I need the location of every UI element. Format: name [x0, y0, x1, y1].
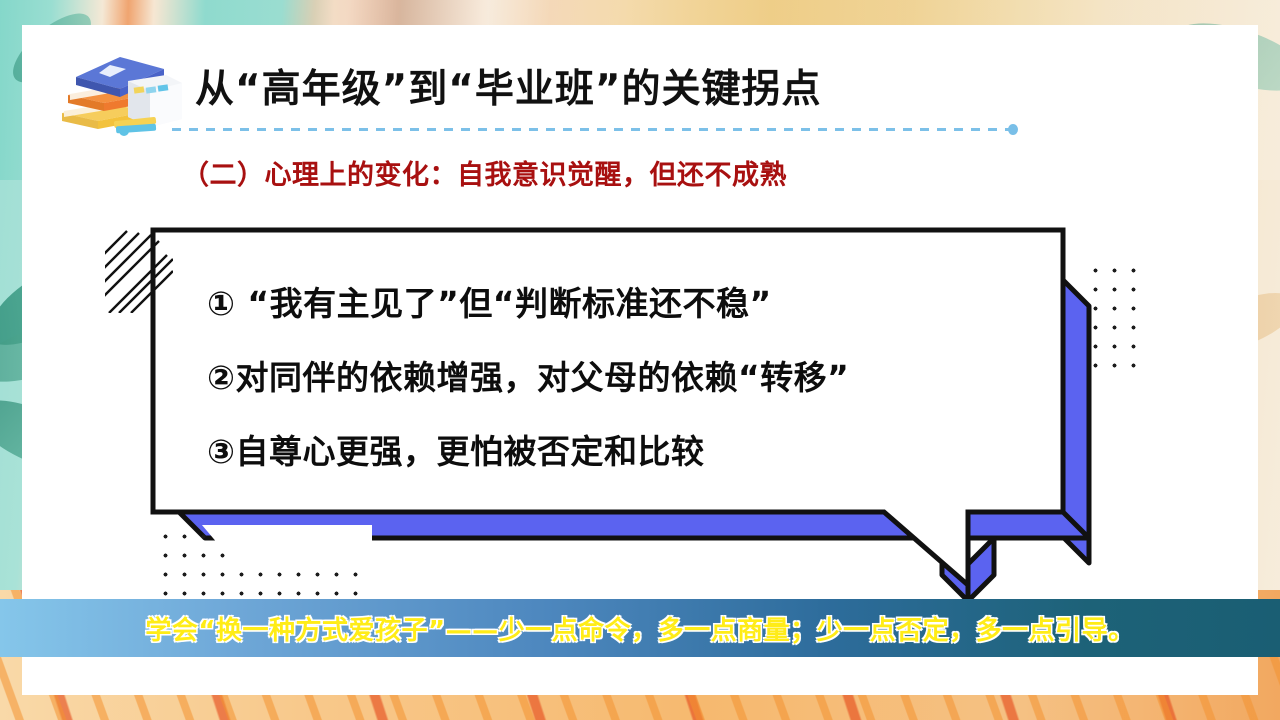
divider-end-dot	[1008, 124, 1018, 135]
content-card: 从“高年级”到“毕业班”的关键拐点 （二）心理上的变化：自我意识觉醒，但还不成熟	[22, 25, 1258, 695]
slide-header: 从“高年级”到“毕业班”的关键拐点	[22, 25, 1258, 140]
diagonal-hatch-decoration	[105, 225, 173, 313]
section-subtitle: （二）心理上的变化：自我意识觉醒，但还不成熟	[182, 153, 787, 192]
dot-grid-decoration	[1084, 259, 1138, 375]
bubble-line-1: ① “我有主见了”但“判断标准还不稳”	[207, 287, 1087, 320]
book-stack-icon	[54, 47, 184, 137]
bubble-line-2: ②对同伴的依赖增强，对父母的依赖“转移”	[207, 361, 1087, 394]
dashed-divider	[172, 128, 1010, 131]
bubble-line-3: ③自尊心更强，更怕被否定和比较	[207, 435, 1087, 468]
page-title: 从“高年级”到“毕业班”的关键拐点	[195, 58, 822, 114]
banner-text: 学会“换一种方式爱孩子”——少一点命令，多一点商量；少一点否定，多一点引导。	[145, 610, 1134, 647]
bottom-banner: 学会“换一种方式爱孩子”——少一点命令，多一点商量；少一点否定，多一点引导。	[0, 599, 1280, 657]
bubble-content: ① “我有主见了”但“判断标准还不稳” ②对同伴的依赖增强，对父母的依赖“转移”…	[207, 287, 1087, 468]
slide-canvas: 从“高年级”到“毕业班”的关键拐点 （二）心理上的变化：自我意识觉醒，但还不成熟	[0, 0, 1280, 720]
